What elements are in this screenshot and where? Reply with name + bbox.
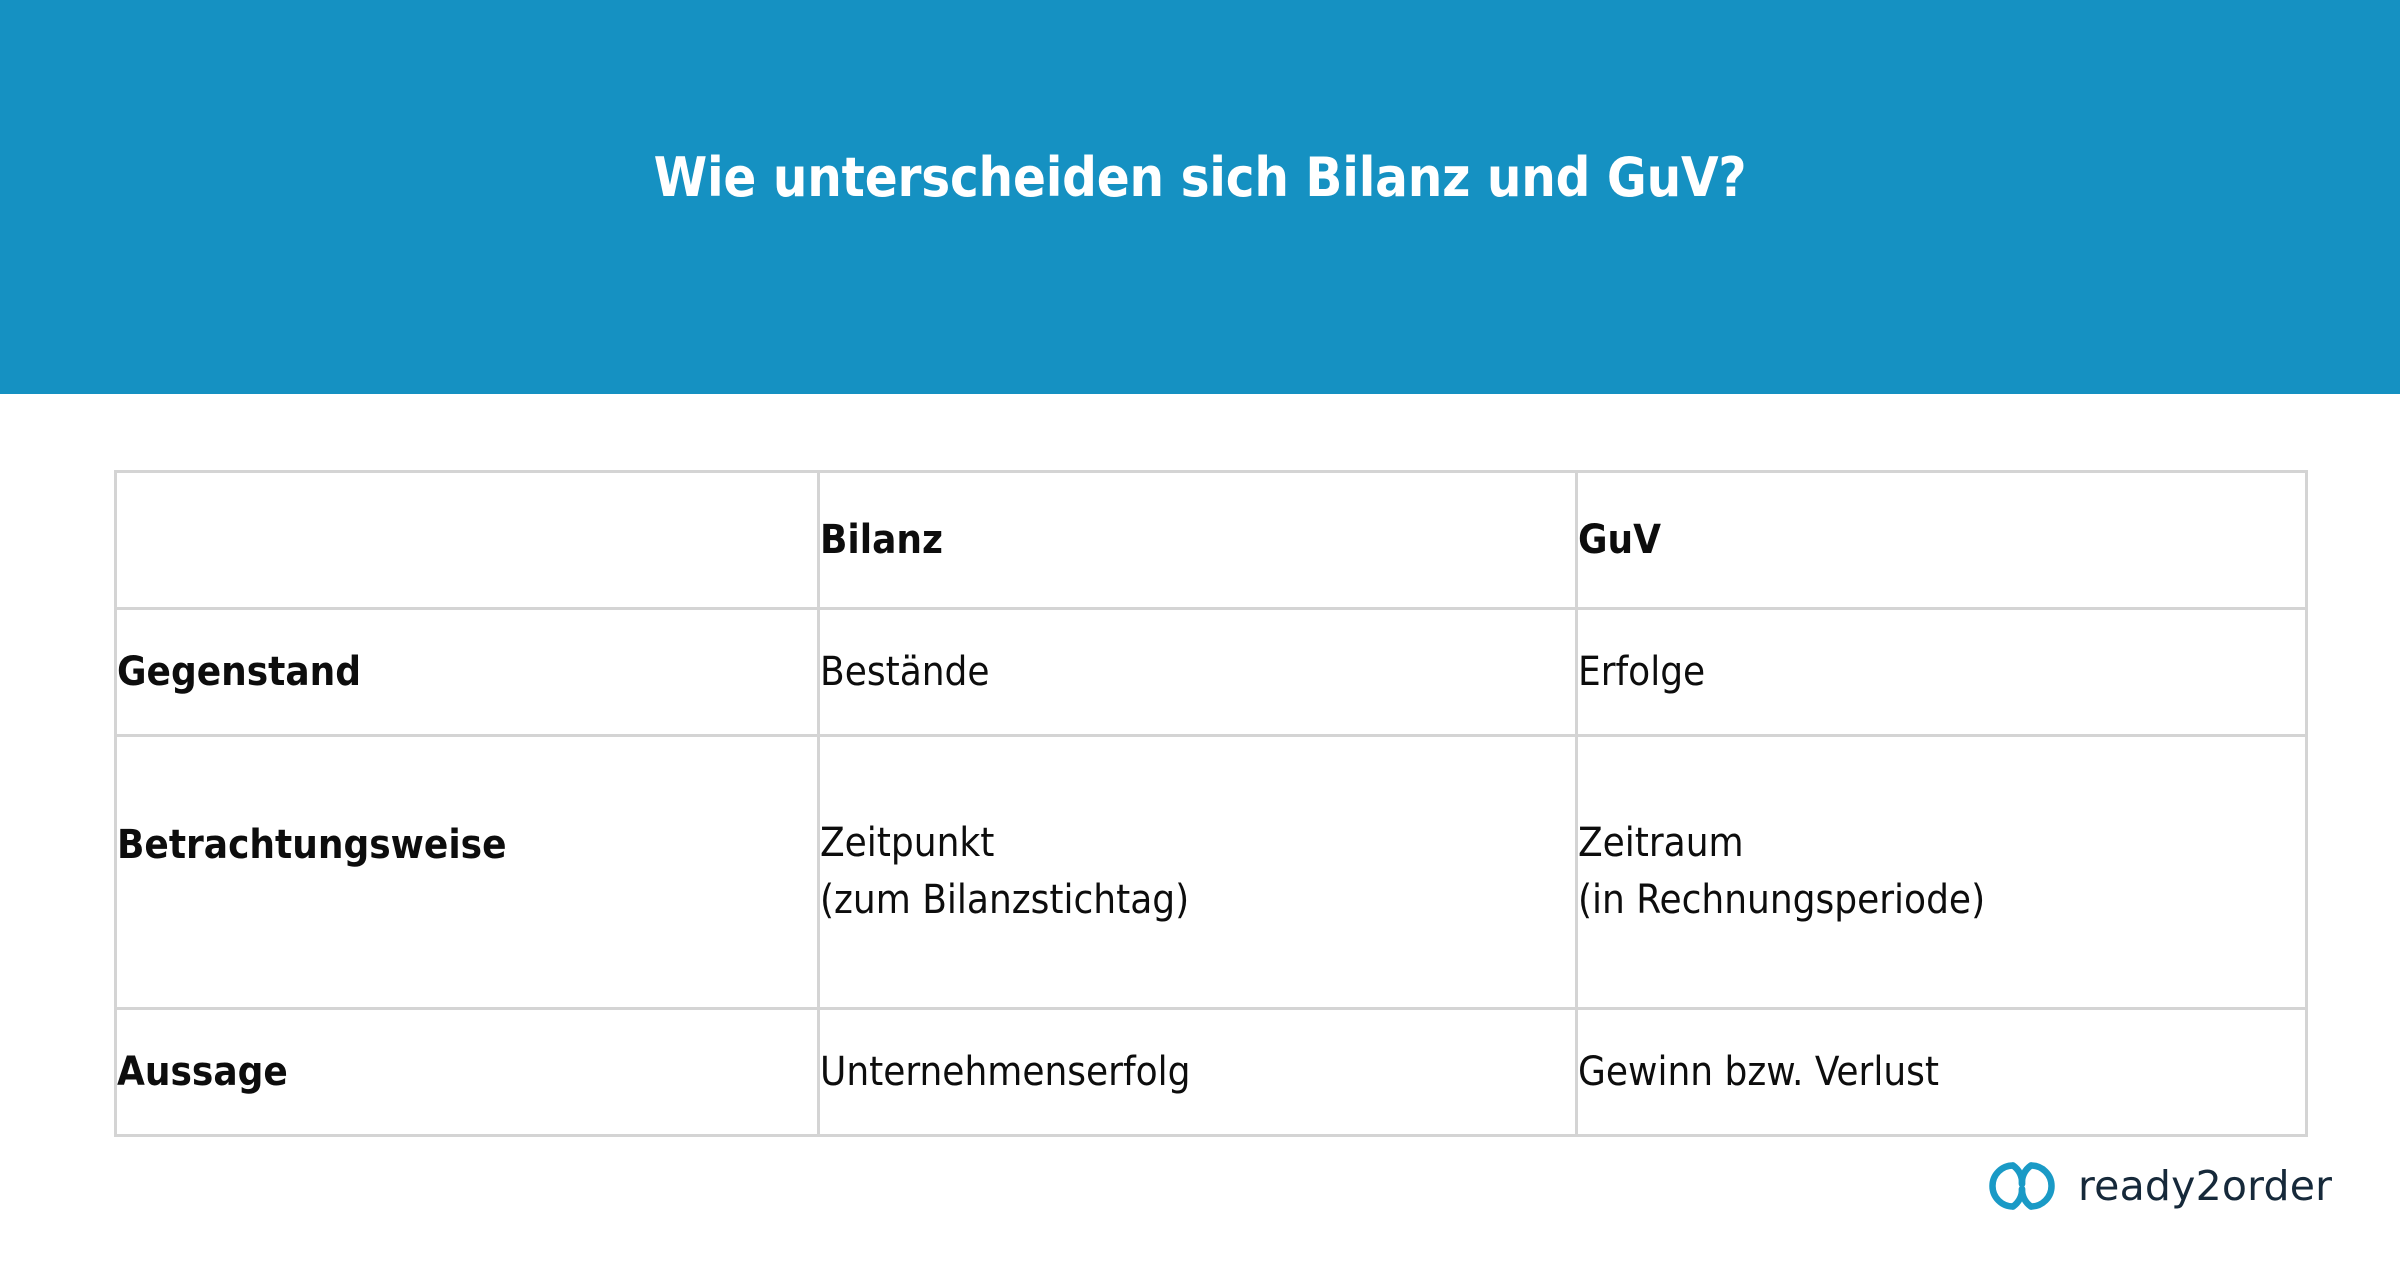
table-header-cell-empty	[116, 472, 819, 609]
interlocking-rings-icon	[1983, 1158, 2061, 1214]
text-line-2: (zum Bilanzstichtag)	[820, 872, 1575, 929]
cell-betrachtungsweise-bilanz: Zeitpunkt (zum Bilanzstichtag)	[819, 736, 1577, 1009]
table-row: Aussage Unternehmenserfolg Gewinn bzw. V…	[116, 1009, 2307, 1136]
row-label-gegenstand: Gegenstand	[116, 609, 819, 736]
cell-aussage-bilanz: Unternehmenserfolg	[819, 1009, 1577, 1136]
header-band: Wie unterscheiden sich Bilanz und GuV?	[0, 0, 2400, 394]
cell-betrachtungsweise-guv: Zeitraum (in Rechnungsperiode)	[1577, 736, 2307, 1009]
multiline-text: Zeitraum (in Rechnungsperiode)	[1578, 815, 2305, 929]
table-header-row: Bilanz GuV	[116, 472, 2307, 609]
cell-gegenstand-bilanz: Bestände	[819, 609, 1577, 736]
table-row: Betrachtungsweise Zeitpunkt (zum Bilanzs…	[116, 736, 2307, 1009]
brand-wordmark: ready2order	[2078, 1166, 2332, 1207]
table-row: Gegenstand Bestände Erfolge	[116, 609, 2307, 736]
row-label-betrachtungsweise: Betrachtungsweise	[116, 736, 819, 1009]
cell-aussage-guv: Gewinn bzw. Verlust	[1577, 1009, 2307, 1136]
comparison-table-container: Bilanz GuV Gegenstand Bestände Erfolge B…	[114, 470, 2305, 1137]
row-label-aussage: Aussage	[116, 1009, 819, 1136]
comparison-table: Bilanz GuV Gegenstand Bestände Erfolge B…	[114, 470, 2308, 1137]
table-header-cell-bilanz: Bilanz	[819, 472, 1577, 609]
page-title: Wie unterscheiden sich Bilanz und GuV?	[654, 148, 1747, 207]
multiline-text: Zeitpunkt (zum Bilanzstichtag)	[820, 815, 1575, 929]
text-line-2: (in Rechnungsperiode)	[1578, 872, 2305, 929]
brand-logo: ready2order	[1983, 1158, 2332, 1214]
text-line-1: Zeitraum	[1578, 815, 2305, 872]
table-header-cell-guv: GuV	[1577, 472, 2307, 609]
cell-gegenstand-guv: Erfolge	[1577, 609, 2307, 736]
text-line-1: Zeitpunkt	[820, 815, 1575, 872]
